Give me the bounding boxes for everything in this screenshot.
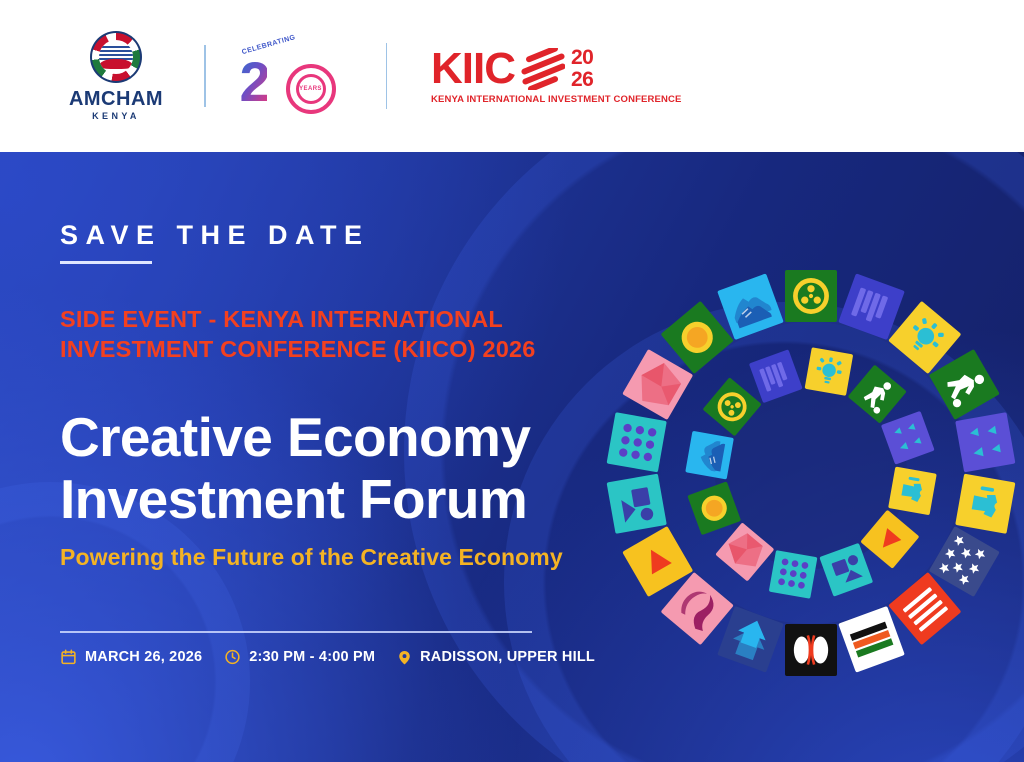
amcham-seal-icon — [90, 31, 142, 83]
creative-industries-ring-graphic — [596, 258, 1024, 688]
event-title-line-1: Creative Economy — [60, 407, 620, 469]
detail-date: MARCH 26, 2026 — [60, 648, 202, 666]
kiic-full-name: KENYA INTERNATIONAL INVESTMENT CONFERENC… — [431, 94, 682, 105]
kiic-year-bottom: 26 — [571, 69, 593, 90]
calendar-icon — [60, 648, 77, 666]
anniversary-number: 2 — [240, 54, 267, 110]
amcham-wordmark: AMCHAM — [69, 89, 163, 109]
detail-time-text: 2:30 PM - 4:00 PM — [249, 649, 375, 665]
anniversary-20-logo: CELEBRATING 2 YEARS — [238, 38, 342, 114]
detail-venue: RADISSON, UPPER HILL — [397, 648, 595, 667]
logo-divider-1 — [204, 45, 206, 107]
detail-venue-text: RADISSON, UPPER HILL — [420, 649, 595, 665]
event-title-line-2: Investment Forum — [60, 469, 620, 531]
kiic-wordmark: KIIC — [431, 49, 515, 89]
logo-divider-2 — [386, 43, 388, 109]
kiic-year: 20 26 — [571, 47, 593, 90]
event-tagline: Powering the Future of the Creative Econ… — [60, 544, 620, 571]
event-title: Creative Economy Investment Forum — [60, 407, 620, 530]
kiic-globe-icon — [521, 48, 565, 90]
years-label: YEARS — [299, 86, 322, 92]
poster-canvas: AMCHAM KENYA CELEBRATING 2 YEARS KIIC — [0, 0, 1024, 762]
logo-header: AMCHAM KENYA CELEBRATING 2 YEARS KIIC — [0, 0, 1024, 152]
anniversary-zero-ring: YEARS — [286, 64, 336, 114]
detail-date-text: MARCH 26, 2026 — [85, 649, 202, 665]
detail-time: 2:30 PM - 4:00 PM — [224, 648, 375, 666]
eyebrow-underline — [60, 261, 152, 264]
details-divider — [60, 631, 532, 633]
amcham-country: KENYA — [92, 112, 140, 121]
poster-background: SAVE THE DATE SIDE EVENT - KENYA INTERNA… — [0, 152, 1024, 762]
save-the-date-eyebrow: SAVE THE DATE — [60, 222, 620, 249]
side-event-line-2: INVESTMENT CONFERENCE (KIICO) 2026 — [60, 334, 580, 365]
logo-row: AMCHAM KENYA CELEBRATING 2 YEARS KIIC — [0, 31, 682, 121]
side-event-line-1: SIDE EVENT - KENYA INTERNATIONAL — [60, 304, 580, 335]
amcham-logo: AMCHAM KENYA — [60, 31, 172, 121]
kiic-year-top: 20 — [571, 47, 593, 68]
event-details-bar: MARCH 26, 2026 2:30 PM - 4:00 PM RADISSO… — [60, 648, 620, 667]
hero-content: SAVE THE DATE SIDE EVENT - KENYA INTERNA… — [60, 152, 620, 667]
location-pin-icon — [397, 648, 412, 667]
clock-icon — [224, 648, 241, 666]
kiic-logo: KIIC 20 26 KENYA INTERNATIONAL INVESTMEN… — [431, 47, 682, 105]
side-event-subtitle: SIDE EVENT - KENYA INTERNATIONAL INVESTM… — [60, 304, 580, 366]
